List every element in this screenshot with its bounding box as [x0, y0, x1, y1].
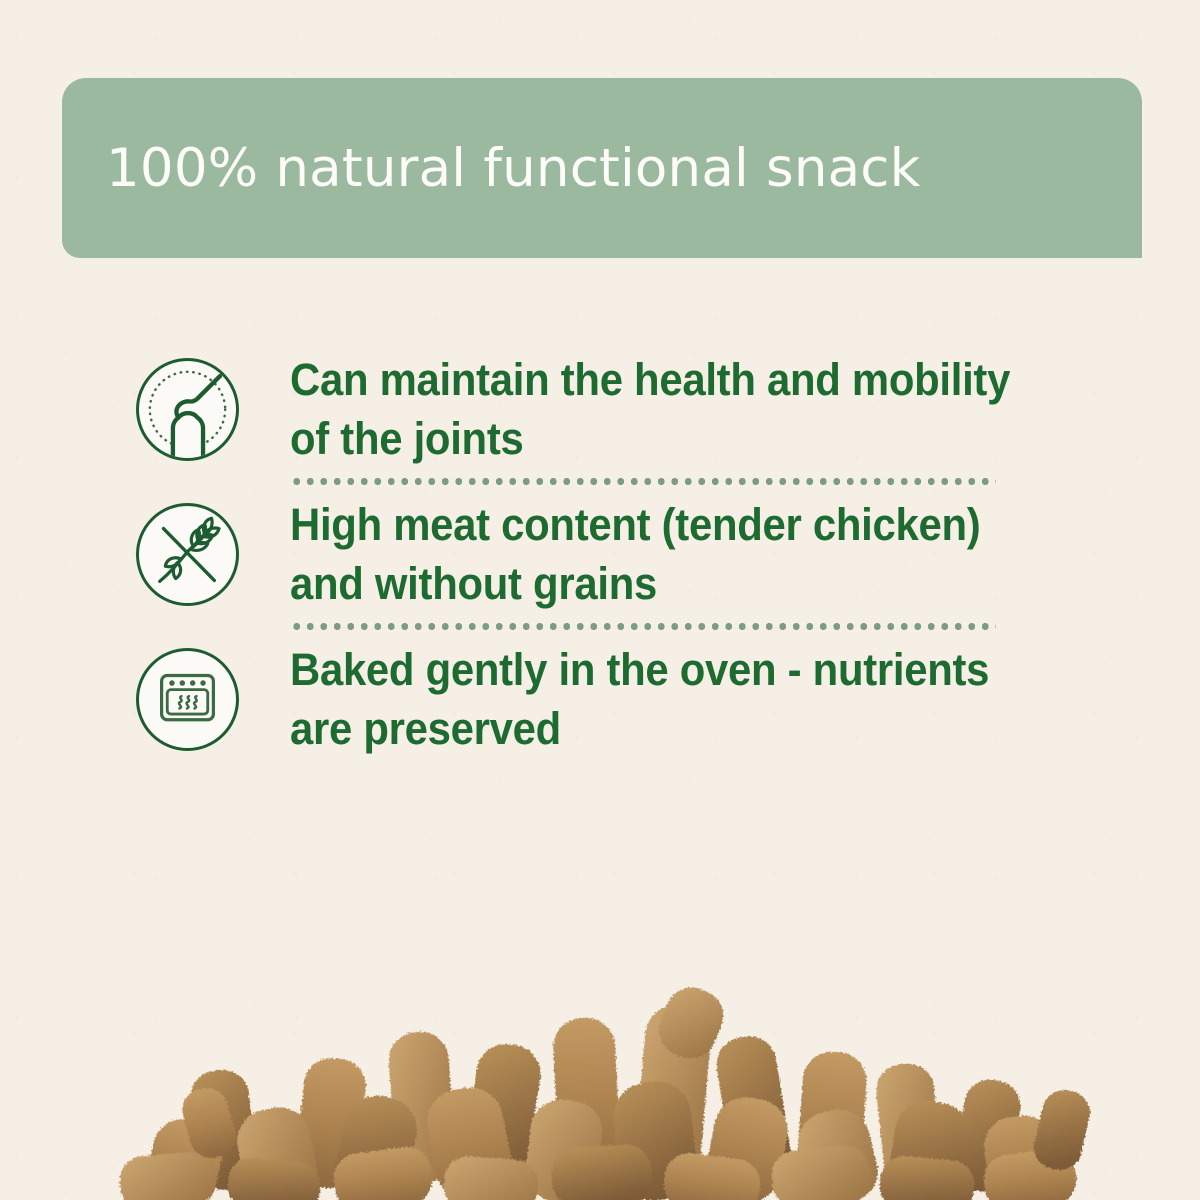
feature-label-grain-free: High meat content (tender chicken) and w…	[290, 495, 1025, 614]
dotted-divider	[290, 623, 996, 630]
feature-label-oven-baked: Baked gently in the oven - nutrients are…	[290, 640, 1025, 759]
feature-divider-2	[0, 623, 1200, 630]
header-banner: 100% natural functional snack	[62, 78, 1142, 258]
feature-item-oven-baked: Baked gently in the oven - nutrients are…	[0, 630, 1200, 768]
banner-title: 100% natural functional snack	[62, 138, 921, 199]
feature-item-joints: Can maintain the health and mobility of …	[0, 340, 1200, 478]
product-photo	[0, 940, 1200, 1200]
feature-label-joints: Can maintain the health and mobility of …	[290, 350, 1025, 469]
feature-list: Can maintain the health and mobility of …	[0, 340, 1200, 768]
feature-item-grain-free: High meat content (tender chicken) and w…	[0, 485, 1200, 623]
oven-icon	[136, 648, 239, 751]
joint-bone-icon	[136, 358, 239, 461]
no-grain-wheat-icon	[136, 503, 239, 606]
dotted-divider	[290, 478, 996, 485]
feature-divider-1	[0, 478, 1200, 485]
